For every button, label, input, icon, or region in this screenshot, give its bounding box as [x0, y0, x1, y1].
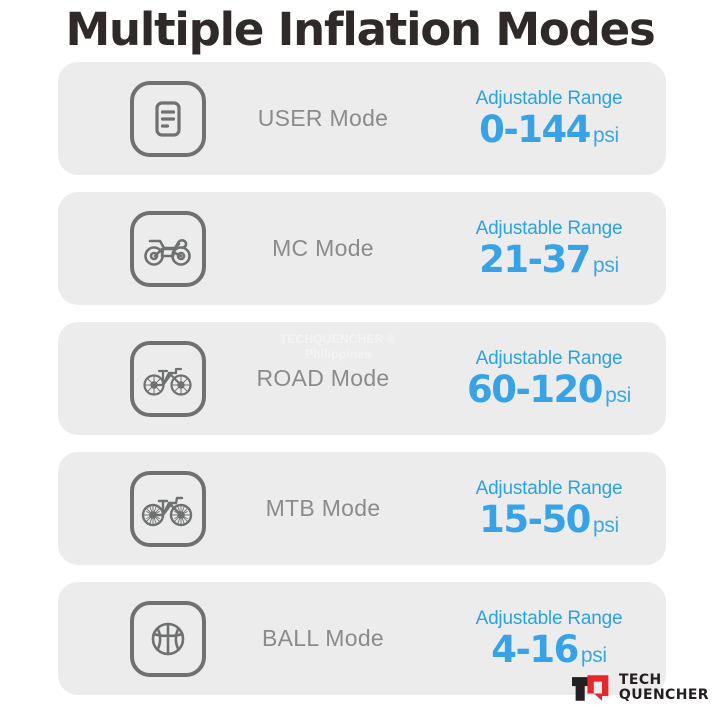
range-value: 60-120: [467, 368, 602, 411]
range-block: Adjustable Range 0-144psi: [444, 89, 666, 148]
range-value-line: 0-144psi: [444, 111, 654, 148]
mode-row-mc: MC Mode Adjustable Range 21-37psi: [58, 192, 666, 305]
range-caption: Adjustable Range: [444, 219, 654, 240]
document-icon: [130, 81, 206, 157]
brand-logo: TECH QUENCHER: [572, 669, 709, 707]
mode-label: MTB Mode: [212, 495, 434, 522]
range-block: Adjustable Range 21-37psi: [444, 219, 666, 278]
range-unit: psi: [581, 644, 607, 667]
range-caption: Adjustable Range: [444, 89, 654, 110]
basketball-icon: [130, 601, 206, 677]
logo-mark-icon: [572, 669, 612, 707]
range-value: 21-37: [479, 238, 590, 281]
range-caption: Adjustable Range: [444, 349, 654, 370]
mode-label: BALL Mode: [212, 625, 434, 652]
range-value: 0-144: [479, 108, 590, 151]
mode-row-road: ROAD Mode Adjustable Range 60-120psi: [58, 322, 666, 435]
mode-label: USER Mode: [212, 105, 434, 132]
range-value: 15-50: [479, 498, 590, 541]
range-value-line: 4-16psi: [444, 631, 654, 668]
mode-list: USER Mode Adjustable Range 0-144psi: [58, 62, 666, 712]
range-value: 4-16: [491, 628, 578, 671]
motorcycle-icon: [130, 211, 206, 287]
range-value-line: 15-50psi: [444, 501, 654, 538]
logo-text: TECH QUENCHER: [619, 673, 709, 703]
range-unit: psi: [605, 384, 631, 407]
page-title: Multiple Inflation Modes: [0, 0, 720, 52]
range-value-line: 21-37psi: [444, 241, 654, 278]
mountain-bike-icon: [130, 471, 206, 547]
mode-row-user: USER Mode Adjustable Range 0-144psi: [58, 62, 666, 175]
range-unit: psi: [593, 254, 619, 277]
mode-row-mtb: MTB Mode Adjustable Range 15-50psi: [58, 452, 666, 565]
range-caption: Adjustable Range: [444, 479, 654, 500]
logo-line-2: QUENCHER: [619, 688, 709, 703]
range-unit: psi: [593, 124, 619, 147]
range-block: Adjustable Range 60-120psi: [444, 349, 666, 408]
mode-label: ROAD Mode: [212, 365, 434, 392]
range-caption: Adjustable Range: [444, 609, 654, 630]
road-bike-icon: [130, 341, 206, 417]
range-block: Adjustable Range 4-16psi: [444, 609, 666, 668]
range-value-line: 60-120psi: [444, 371, 654, 408]
infographic-page: Multiple Inflation Modes USER Mode Adjus…: [0, 0, 720, 720]
logo-line-1: TECH: [619, 673, 709, 688]
mode-label: MC Mode: [212, 235, 434, 262]
range-unit: psi: [593, 514, 619, 537]
range-block: Adjustable Range 15-50psi: [444, 479, 666, 538]
